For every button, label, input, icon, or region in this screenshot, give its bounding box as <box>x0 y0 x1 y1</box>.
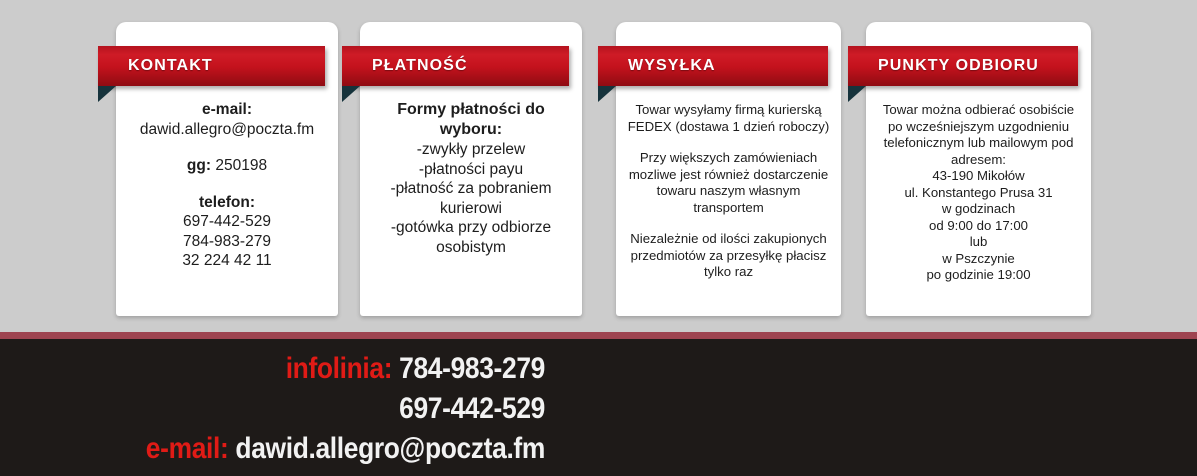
ribbon-platnosc: PŁATNOŚĆ <box>342 46 569 86</box>
footer-email-value: dawid.allegro@poczta.fm <box>235 432 545 465</box>
shipping-paragraph-2: Przy większych zamówieniach mozliwe jest… <box>626 150 831 216</box>
pickup-or: lub <box>876 234 1081 251</box>
pickup-hours-label: w godzinach <box>876 201 1081 218</box>
ribbon-banner: PUNKTY ODBIORU <box>848 46 1078 86</box>
footer-infolinia-row-2: 697-442-529 <box>65 389 545 429</box>
ribbon-banner: PŁATNOŚĆ <box>342 46 569 86</box>
cards-area: KONTAKT e-mail: dawid.allegro@poczta.fm … <box>0 0 1197 332</box>
card-body-platnosc: Formy płatności do wyboru: -zwykły przel… <box>368 100 574 257</box>
ribbon-banner: KONTAKT <box>98 46 325 86</box>
gg-label: gg: <box>187 157 211 174</box>
card-title-platnosc: PŁATNOŚĆ <box>372 46 468 86</box>
pickup-city-2: w Pszczynie <box>876 251 1081 268</box>
ribbon-fold-icon <box>98 86 116 102</box>
card-kontakt: KONTAKT e-mail: dawid.allegro@poczta.fm … <box>116 22 338 316</box>
card-wysylka: WYSYŁKA Towar wysyłamy firmą kurierską F… <box>616 22 841 316</box>
ribbon-banner: WYSYŁKA <box>598 46 828 86</box>
pickup-hours-2: po godzinie 19:00 <box>876 267 1081 284</box>
spacer <box>124 139 330 156</box>
footer-infolinia-label: infolinia: <box>286 352 392 385</box>
telefon-value-2: 784-983-279 <box>124 232 330 252</box>
ribbon-kontakt: KONTAKT <box>98 46 325 86</box>
ribbon-punkty-odbioru: PUNKTY ODBIORU <box>848 46 1078 86</box>
card-body-kontakt: e-mail: dawid.allegro@poczta.fm gg: 2501… <box>124 100 330 271</box>
footer-divider <box>0 332 1197 339</box>
spacer <box>124 176 330 193</box>
card-punkty-odbioru: PUNKTY ODBIORU Towar można odbierać osob… <box>866 22 1091 316</box>
pickup-street: ul. Konstantego Prusa 31 <box>876 185 1081 202</box>
gg-value: 250198 <box>215 157 267 174</box>
footer-email-label: e-mail: <box>146 432 229 465</box>
card-title-kontakt: KONTAKT <box>128 46 213 86</box>
telefon-value-3: 32 224 42 11 <box>124 251 330 271</box>
payment-option-2: -płatności payu <box>368 160 574 180</box>
spacer <box>626 135 831 150</box>
card-body-punkty-odbioru: Towar można odbierać osobiście po wcześn… <box>876 102 1081 284</box>
pickup-intro: Towar można odbierać osobiście po wcześn… <box>876 102 1081 168</box>
payment-option-1: -zwykły przelew <box>368 140 574 160</box>
ribbon-fold-icon <box>848 86 866 102</box>
card-title-punkty-odbioru: PUNKTY ODBIORU <box>878 46 1039 86</box>
footer-infolinia-row: infolinia: 784-983-279 <box>65 349 545 389</box>
pickup-postcode-city: 43-190 Mikołów <box>876 168 1081 185</box>
email-value: dawid.allegro@poczta.fm <box>124 120 330 140</box>
payment-option-3: -płatność za pobraniem kurierowi <box>368 179 574 218</box>
footer-contact-block: infolinia: 784-983-279 697-442-529 e-mai… <box>65 349 545 469</box>
ribbon-fold-icon <box>598 86 616 102</box>
ribbon-wysylka: WYSYŁKA <box>598 46 828 86</box>
footer: infolinia: 784-983-279 697-442-529 e-mai… <box>0 339 1197 476</box>
telefon-value-1: 697-442-529 <box>124 212 330 232</box>
footer-infolinia-value-2: 697-442-529 <box>399 392 545 425</box>
email-label: e-mail: <box>124 100 330 120</box>
card-platnosc: PŁATNOŚĆ Formy płatności do wyboru: -zwy… <box>360 22 582 316</box>
card-body-wysylka: Towar wysyłamy firmą kurierską FEDEX (do… <box>626 102 831 281</box>
footer-email-row: e-mail: dawid.allegro@poczta.fm <box>65 429 545 469</box>
shipping-paragraph-1: Towar wysyłamy firmą kurierską FEDEX (do… <box>626 102 831 135</box>
ribbon-fold-icon <box>342 86 360 102</box>
footer-infolinia-value: 784-983-279 <box>399 352 545 385</box>
spacer <box>626 216 831 231</box>
telefon-label: telefon: <box>124 193 330 213</box>
payment-heading: Formy płatności do wyboru: <box>368 100 574 140</box>
payment-option-4: -gotówka przy odbiorze osobistym <box>368 218 574 257</box>
shipping-paragraph-3: Niezależnie od ilości zakupionych przedm… <box>626 231 831 281</box>
card-title-wysylka: WYSYŁKA <box>628 46 716 86</box>
pickup-hours-value: od 9:00 do 17:00 <box>876 218 1081 235</box>
gg-row: gg: 250198 <box>124 156 330 176</box>
